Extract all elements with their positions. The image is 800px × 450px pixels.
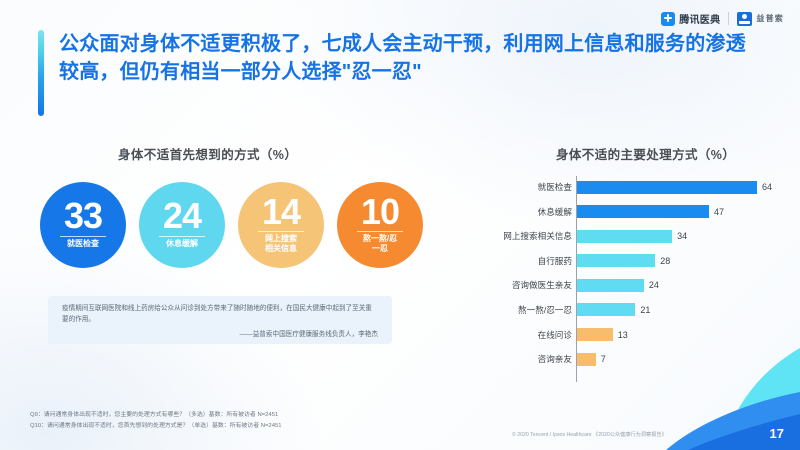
circle-stat-value: 10	[361, 195, 399, 228]
tencent-medipedia-book-icon	[661, 12, 675, 26]
brand-logos: 腾讯医典 益普索	[661, 11, 784, 26]
bar-row: 网上搜索相关信息34	[460, 225, 790, 247]
bar-segment	[576, 181, 757, 194]
circle-stat-divider	[357, 231, 403, 232]
quote-attribution: ——益普索中国医疗健康服务线负责人，李艳杰	[62, 328, 378, 338]
logo-divider	[728, 12, 729, 25]
logo-primary-label: 腾讯医典	[679, 11, 720, 26]
page-number: 17	[770, 426, 784, 441]
bar-row: 就医检查64	[460, 176, 790, 198]
logo-tencent-medipedia: 腾讯医典	[661, 11, 720, 26]
bar-row: 休息缓解47	[460, 201, 790, 223]
bar-category-label: 咨询做医生亲友	[460, 279, 576, 291]
left-section-title: 身体不适首先想到的方式（%）	[118, 144, 297, 163]
bar-row: 咨询亲友7	[460, 348, 790, 370]
bar-row: 自行服药28	[460, 250, 790, 272]
circle-stat-label: 就医检查	[61, 239, 105, 249]
footnote-line: Q10：请问通常身体出现不适时，您首先想到的处理方式是？（单选）基数：所有被访者…	[30, 421, 282, 432]
bar-rows-container: 就医检查64休息缓解47网上搜索相关信息34自行服药28咨询做医生亲友24熬一熬…	[460, 176, 790, 370]
bar-value-label: 24	[649, 280, 659, 290]
bar-category-label: 网上搜索相关信息	[460, 230, 576, 242]
circle-stat-divider	[258, 231, 304, 232]
bar-category-label: 休息缓解	[460, 206, 576, 218]
bar-value-label: 13	[618, 330, 628, 340]
bar-value-label: 7	[601, 354, 606, 364]
copyright-text: © 2020 Tencent / Ipsos Healthcare 《2020公…	[512, 431, 667, 438]
circle-stat-value: 33	[64, 199, 102, 232]
bar-category-label: 就医检查	[460, 181, 576, 193]
bar-value-label: 34	[677, 231, 687, 241]
footnotes: Q9：请问通常身体出现不适时，您主要的处理方式有哪些？（多选）基数：所有被访者 …	[30, 410, 282, 432]
logo-secondary-label: 益普索	[756, 13, 784, 24]
bar-value-label: 47	[714, 207, 724, 217]
circle-stat-label: 网上搜索相关信息	[259, 234, 303, 253]
circle-stat-divider	[159, 236, 205, 237]
bar-segment	[576, 328, 613, 341]
footnote-line: Q9：请问通常身体出现不适时，您主要的处理方式有哪些？（多选）基数：所有被访者 …	[30, 410, 282, 421]
bar-category-label: 咨询亲友	[460, 353, 576, 365]
quote-text: 疫情期间互联网医院和线上药房给公众从问诊到处方带来了随时随地的便利，在国民大健康…	[62, 304, 378, 325]
circle-stat-1: 33就医检查	[40, 182, 126, 268]
circle-stat-4: 10熬一熬/忍一忍	[337, 182, 423, 268]
bar-segment	[576, 303, 635, 316]
ipsos-badge-icon	[737, 12, 752, 26]
logo-ipsos: 益普索	[737, 12, 784, 26]
bar-segment	[576, 205, 709, 218]
title-block: 公众面对身体不适更积极了，七成人会主动干预，利用网上信息和服务的渗透较高，但仍有…	[38, 30, 758, 87]
bar-category-label: 熬一熬/忍一忍	[460, 304, 576, 316]
chart-value-axis	[576, 176, 577, 382]
bar-segment	[576, 353, 596, 366]
bar-segment	[576, 279, 644, 292]
quote-box: 疫情期间互联网医院和线上药房给公众从问诊到处方带来了随时随地的便利，在国民大健康…	[48, 296, 392, 344]
bar-value-label: 21	[640, 305, 650, 315]
circle-stat-2: 24休息缓解	[139, 182, 225, 268]
bar-segment	[576, 230, 672, 243]
bar-value-label: 64	[762, 182, 772, 192]
bar-segment	[576, 254, 655, 267]
slide-canvas: 腾讯医典 益普索 公众面对身体不适更积极了，七成人会主动干预，利用网上信息和服务…	[0, 0, 800, 450]
bar-category-label: 自行服药	[460, 255, 576, 267]
circle-stat-label: 休息缓解	[160, 239, 204, 249]
circle-stat-value: 24	[163, 199, 201, 232]
bar-category-label: 在线问诊	[460, 329, 576, 341]
circle-stats-group: 33就医检查24休息缓解14网上搜索相关信息10熬一熬/忍一忍	[40, 182, 423, 268]
bar-value-label: 28	[660, 256, 670, 266]
circle-stat-label: 熬一熬/忍一忍	[357, 234, 403, 253]
bar-row: 熬一熬/忍一忍21	[460, 299, 790, 321]
page-title: 公众面对身体不适更积极了，七成人会主动干预，利用网上信息和服务的渗透较高，但仍有…	[59, 30, 758, 87]
circle-stat-3: 14网上搜索相关信息	[238, 182, 324, 268]
circle-stat-divider	[60, 236, 106, 237]
bar-row: 咨询做医生亲友24	[460, 274, 790, 296]
circle-stat-value: 14	[262, 195, 300, 228]
right-section-title: 身体不适的主要处理方式（%）	[556, 144, 735, 163]
bar-chart: 就医检查64休息缓解47网上搜索相关信息34自行服药28咨询做医生亲友24熬一熬…	[460, 176, 790, 391]
bar-row: 在线问诊13	[460, 324, 790, 346]
title-accent-bar	[38, 30, 44, 116]
